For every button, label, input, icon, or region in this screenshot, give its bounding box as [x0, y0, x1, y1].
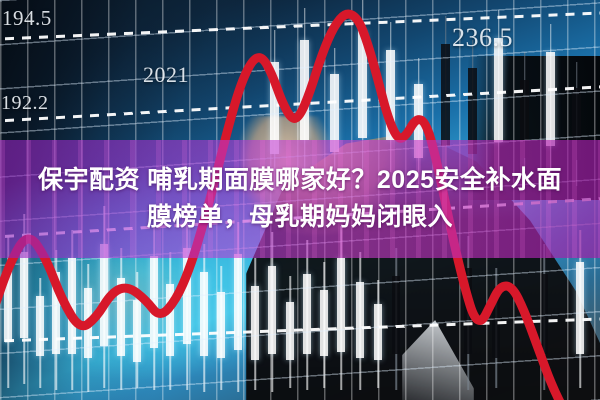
headline-line-1: 保宇配资 哺乳期面膜哪家好？2025安全补水面	[38, 165, 562, 196]
label-2021: 2021	[143, 62, 189, 88]
banner-image: 194.5192.22021236.5 保宇配资 哺乳期面膜哪家好？2025安全…	[0, 0, 600, 400]
label-192-2: 192.2	[1, 92, 49, 115]
headline: 保宇配资 哺乳期面膜哪家好？2025安全补水面 膜榜单，母乳期妈妈闭眼入	[0, 140, 600, 258]
label-194-5: 194.5	[2, 6, 52, 31]
headline-line-2: 膜榜单，母乳期妈妈闭眼入	[147, 202, 453, 233]
label-236-5: 236.5	[452, 23, 513, 53]
